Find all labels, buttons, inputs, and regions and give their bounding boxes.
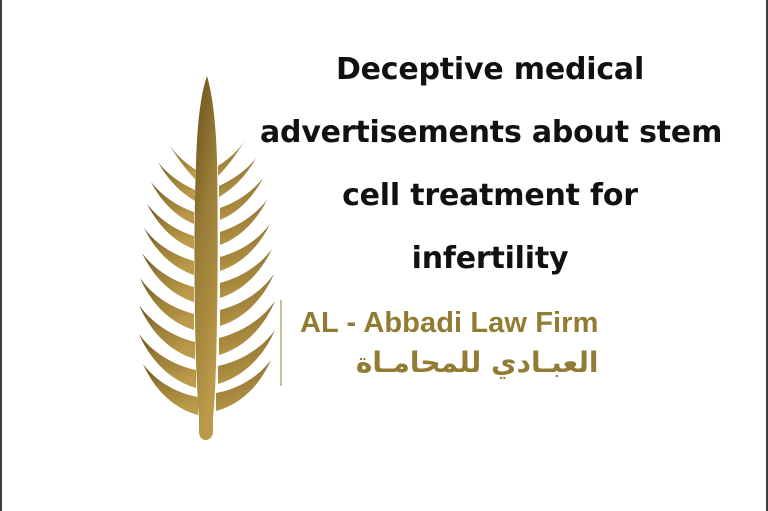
brand-text-group: AL - Abbadi Law Firm العبـادي للمحامـاة xyxy=(300,300,598,386)
brand-name-english: AL - Abbadi Law Firm xyxy=(300,303,598,343)
headline-line-2: advertisements about stem xyxy=(260,101,720,164)
brand-divider xyxy=(280,300,282,386)
brand-lockup: AL - Abbadi Law Firm العبـادي للمحامـاة xyxy=(280,300,598,386)
headline-line-1: Deceptive medical xyxy=(260,38,720,101)
brand-name-arabic: العبـادي للمحامـاة xyxy=(300,343,598,383)
headline-line-4: infertility xyxy=(260,227,720,290)
headline: Deceptive medical advertisements about s… xyxy=(260,38,720,290)
frond-shape xyxy=(139,76,275,440)
headline-line-3: cell treatment for xyxy=(260,164,720,227)
poster-canvas: Deceptive medical advertisements about s… xyxy=(0,0,768,511)
